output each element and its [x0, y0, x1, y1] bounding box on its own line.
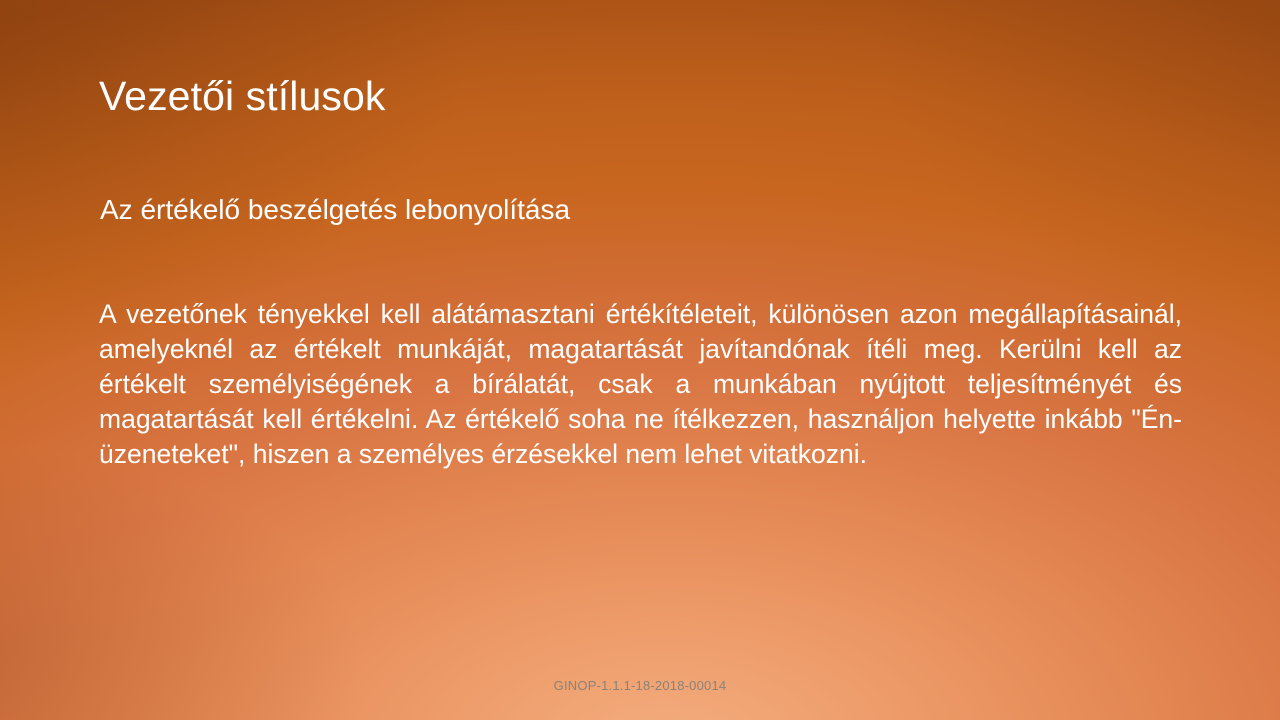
- slide-content-area: Vezetői stílusok Az értékelő beszélgetés…: [99, 0, 1182, 720]
- presentation-slide: Vezetői stílusok Az értékelő beszélgetés…: [0, 0, 1280, 720]
- slide-subtitle: Az értékelő beszélgetés lebonyolítása: [100, 193, 1183, 227]
- slide-body-paragraph: A vezetőnek tényekkel kell alátámasztani…: [99, 297, 1182, 472]
- page-title: Vezetői stílusok: [99, 74, 1182, 120]
- slide-footer-project-code: GINOP-1.1.1-18-2018-00014: [0, 678, 1280, 694]
